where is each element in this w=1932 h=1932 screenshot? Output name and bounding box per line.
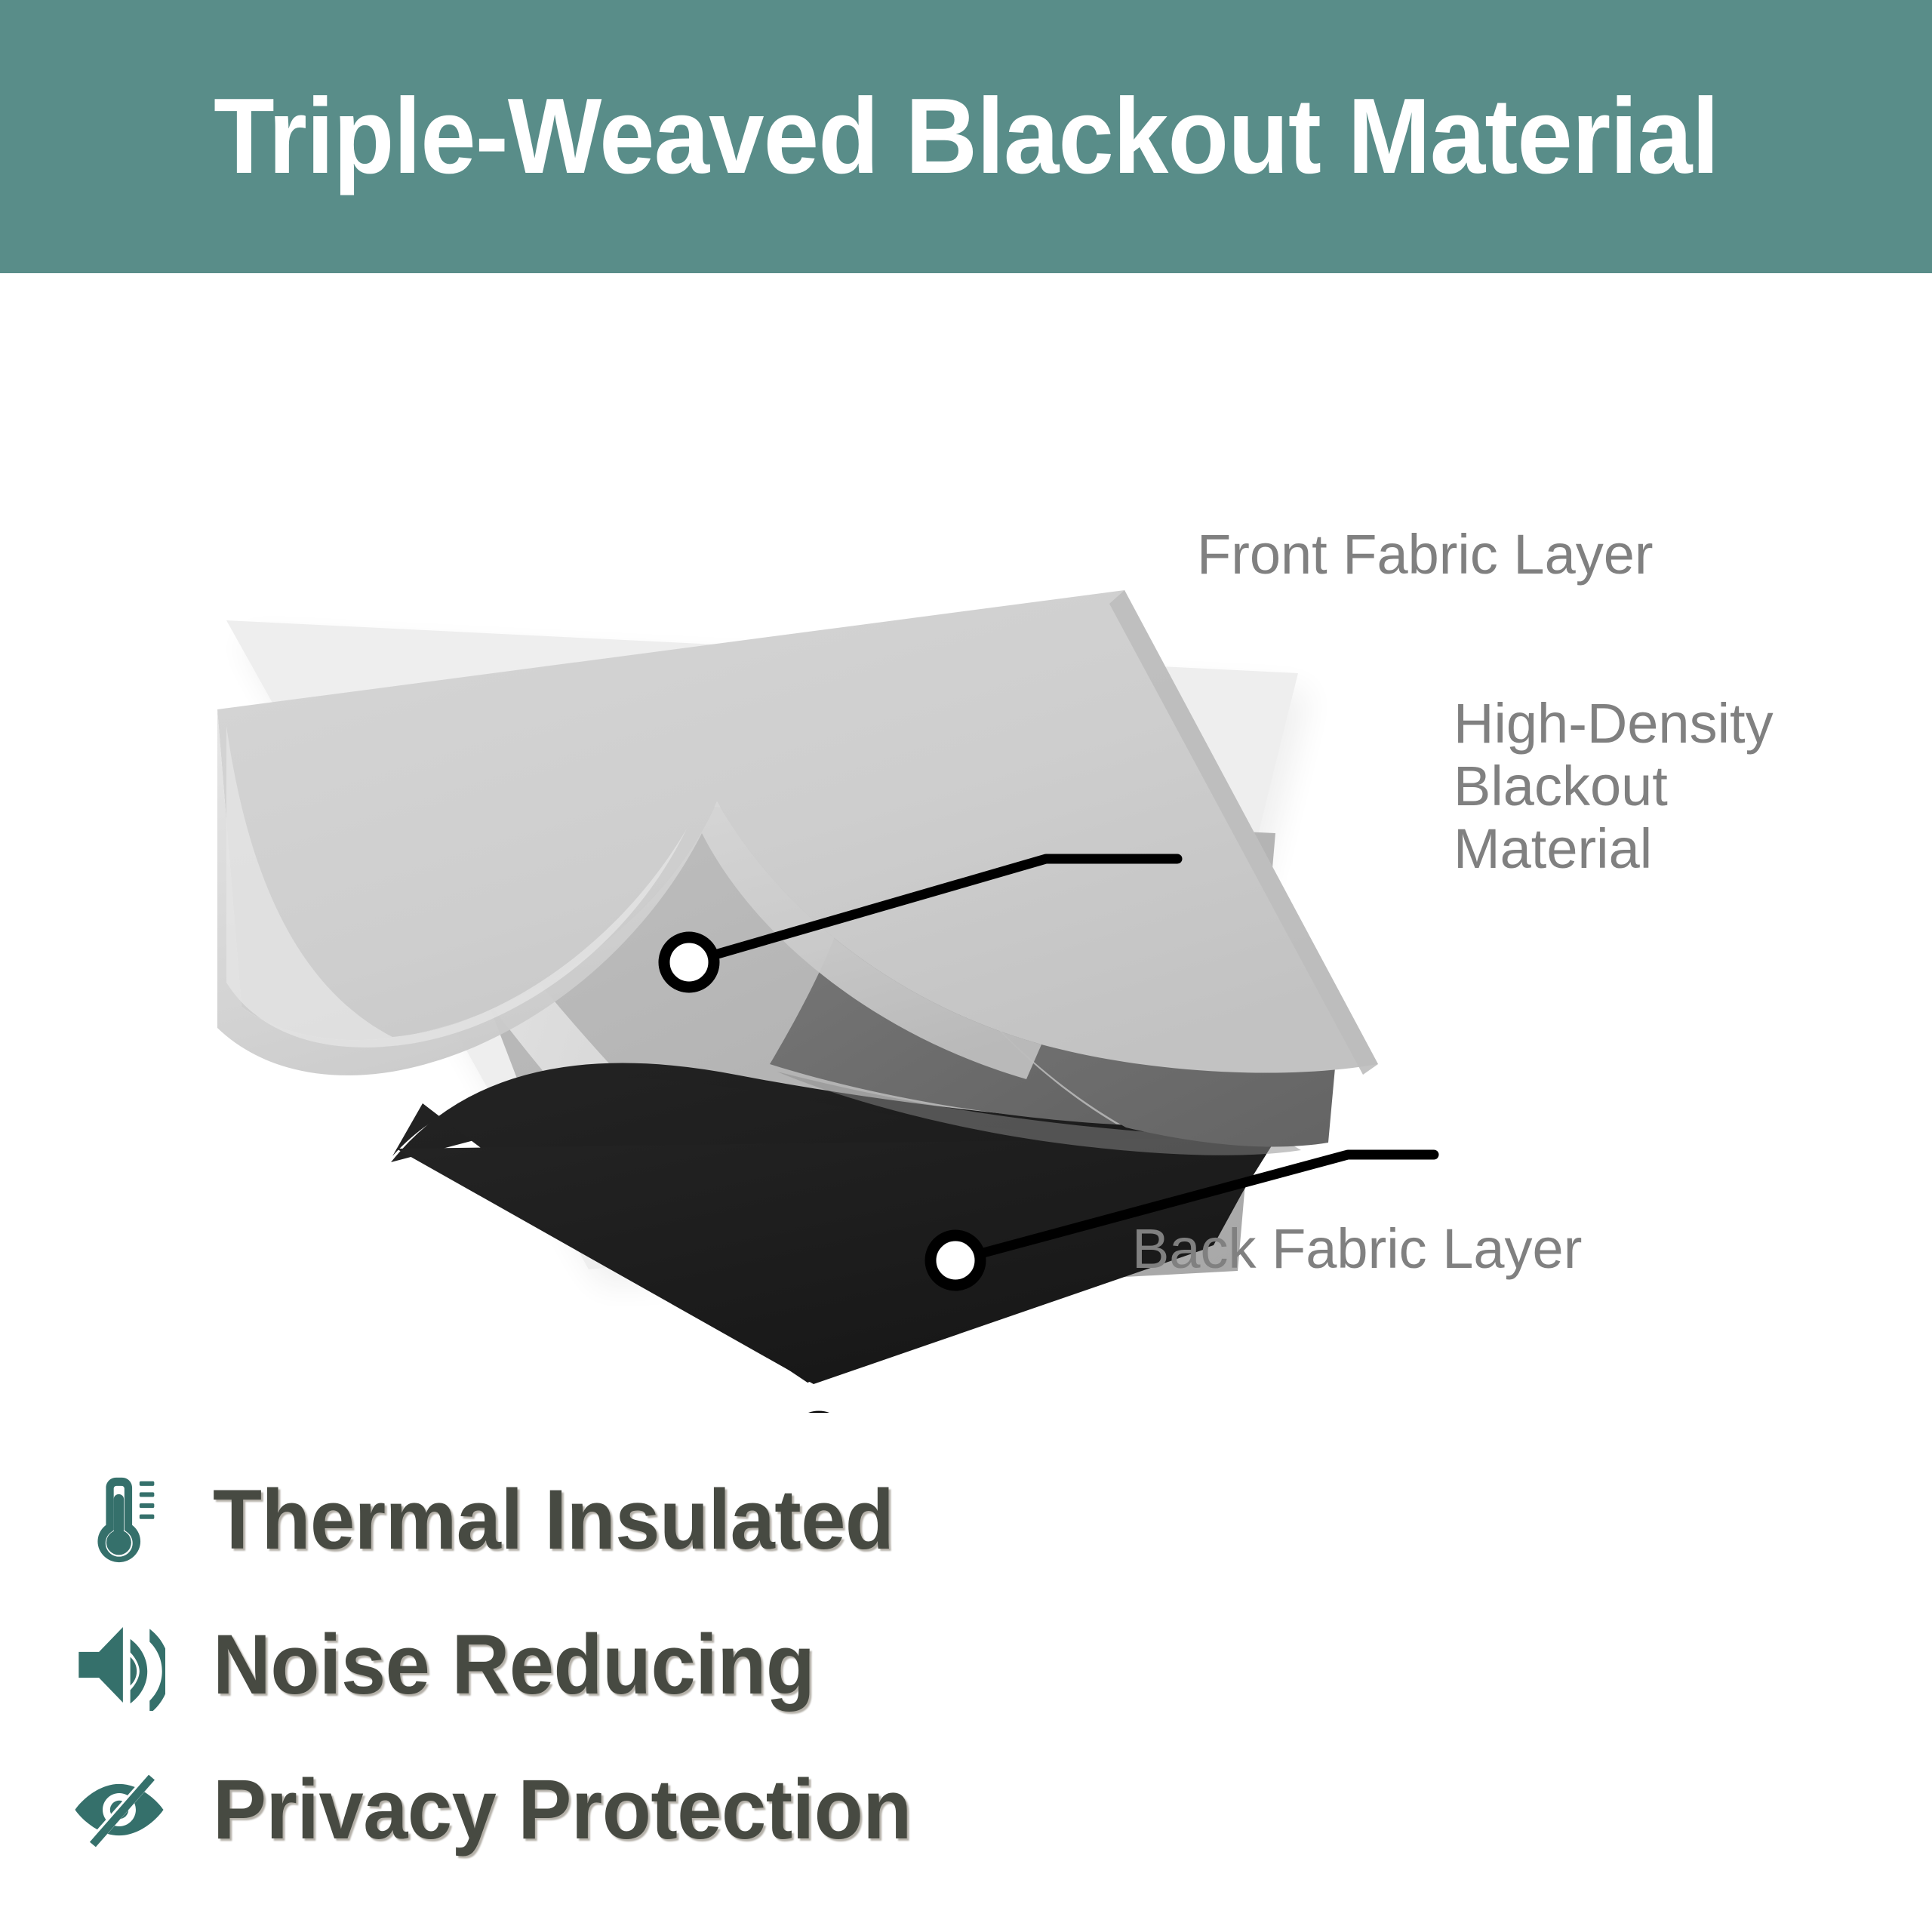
thermometer-icon: [69, 1470, 169, 1570]
feature-item-noise-reducing: Noise Reducing: [0, 1592, 1932, 1737]
feature-label-thermal-insulated: Thermal Insulated: [213, 1478, 894, 1562]
feature-label-privacy-protection: Privacy Protection: [213, 1767, 912, 1852]
feature-list: Thermal Insulated Noise Reducing: [0, 1447, 1932, 1882]
feature-item-privacy-protection: Privacy Protection: [0, 1737, 1932, 1882]
header-banner: Triple-Weaved Blackout Material: [0, 0, 1932, 273]
speaker-wave-icon: [69, 1615, 169, 1715]
feature-label-noise-reducing: Noise Reducing: [213, 1623, 814, 1707]
marker-blackout: [931, 1235, 980, 1285]
feature-item-thermal-insulated: Thermal Insulated: [0, 1447, 1932, 1592]
callout-label-front-fabric: Front Fabric Layer: [1197, 524, 1654, 586]
page-title: Triple-Weaved Blackout Material: [186, 83, 1747, 190]
callout-label-back-fabric: Back Fabric Layer: [1132, 1218, 1582, 1281]
callout-label-blackout: High-Density Blackout Material: [1454, 693, 1774, 881]
eye-slash-icon: [69, 1760, 169, 1860]
fabric-layers-diagram: Front Fabric Layer High-Density Blackout…: [0, 273, 1932, 1413]
marker-front-fabric: [664, 937, 714, 987]
